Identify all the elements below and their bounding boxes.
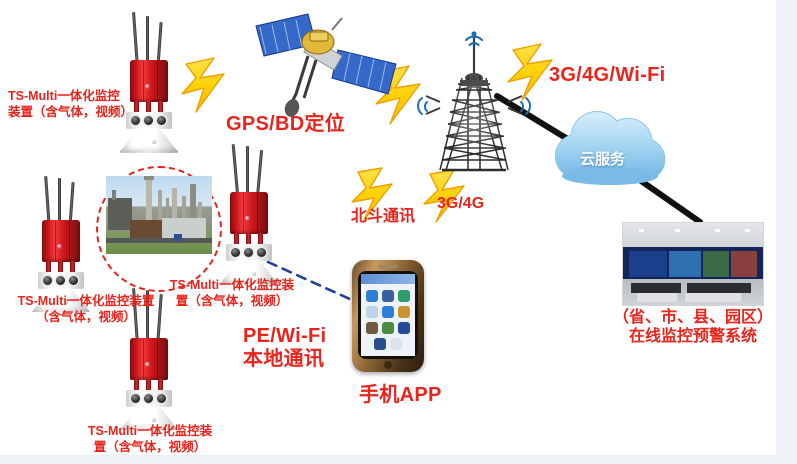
- bolt-satellite-tower: [376, 66, 420, 124]
- sensor-port: [244, 248, 253, 257]
- device-knob: [152, 140, 156, 144]
- cell-tower-icon: [418, 31, 530, 170]
- body-seam: [55, 221, 56, 261]
- phone-home-button[interactable]: [384, 361, 392, 369]
- sensor-port: [157, 116, 166, 125]
- body-seam: [143, 339, 144, 379]
- wifi-arcs-left: [418, 98, 427, 114]
- device-mid-left[interactable]: [24, 176, 96, 308]
- diagram-content: 云服务: [0, 0, 776, 455]
- device-mid-center[interactable]: [212, 144, 284, 280]
- body-seam: [69, 221, 70, 261]
- sensor-port: [56, 276, 65, 285]
- app-icon[interactable]: [366, 290, 378, 302]
- status-dot: [245, 216, 250, 221]
- phone-screen[interactable]: [361, 274, 415, 356]
- app-icon[interactable]: [398, 306, 410, 318]
- antenna: [256, 150, 263, 198]
- app-icon[interactable]: [398, 290, 410, 302]
- industrial-plant-photo: [106, 176, 212, 254]
- label-device-mid-center: TS-Multi一体化监控装 置（含气体，视频）: [160, 278, 304, 309]
- status-dot: [57, 244, 62, 249]
- antenna: [232, 144, 240, 198]
- wifi-arcs-top: [466, 37, 482, 45]
- device-body: [230, 192, 268, 234]
- app-icon[interactable]: [374, 338, 386, 350]
- app-icon[interactable]: [366, 322, 378, 334]
- link-tower-cloud: [497, 96, 566, 138]
- diagram-canvas: 云服务: [0, 0, 797, 464]
- sensor-port: [157, 394, 166, 403]
- label-local-comm: PE/Wi-Fi 本地通讯: [243, 325, 326, 371]
- app-header-bar: [361, 274, 415, 284]
- sensor-port: [43, 276, 52, 285]
- device-base: [120, 150, 178, 153]
- label-gps: GPS/BD定位: [226, 112, 345, 137]
- status-dot: [145, 362, 150, 367]
- app-icon[interactable]: [390, 338, 402, 350]
- body-seam: [157, 339, 158, 379]
- bolt-tower-cloud: [508, 44, 552, 100]
- device-body: [42, 220, 80, 262]
- label-control-center: （省、市、县、园区） 在线监控预警系统: [604, 308, 776, 346]
- device-cone: [120, 128, 178, 152]
- device-knob: [152, 418, 156, 422]
- wifi-arcs-right: [521, 98, 530, 114]
- body-seam: [243, 193, 244, 233]
- bolt-device-satellite: [182, 58, 224, 112]
- label-device-top-left: TS-Multi一体化监控 装置（含气体，视频）: [8, 89, 148, 120]
- app-icon[interactable]: [382, 306, 394, 318]
- sensor-port: [231, 248, 240, 257]
- sensor-port: [144, 394, 153, 403]
- device-knob: [252, 272, 256, 276]
- app-icon[interactable]: [398, 322, 410, 334]
- rugged-handheld-device[interactable]: [352, 260, 424, 372]
- app-icon[interactable]: [366, 306, 378, 318]
- phone-speaker: [378, 265, 398, 268]
- cloud-label: 云服务: [580, 148, 625, 169]
- label-3g4g: 3G/4G: [437, 194, 484, 214]
- satellite-icon: [256, 14, 396, 119]
- device-body: [130, 338, 168, 380]
- sensor-port: [69, 276, 78, 285]
- body-seam: [257, 193, 258, 233]
- sensor-port: [257, 248, 266, 257]
- body-seam: [157, 61, 158, 101]
- sensor-port: [131, 394, 140, 403]
- device-top-left[interactable]: [112, 12, 184, 152]
- app-icon[interactable]: [382, 290, 394, 302]
- link-cloud-controlroom: [634, 176, 700, 222]
- label-3g4g-wifi: 3G/4G/Wi-Fi: [549, 63, 665, 88]
- label-device-bottom: TS-Multi一体化监控装 置（含气体，视频）: [78, 424, 222, 455]
- antenna: [246, 146, 249, 198]
- app-icon[interactable]: [382, 322, 394, 334]
- control-room-photo: [622, 222, 764, 306]
- label-phone-app: 手机APP: [359, 383, 442, 408]
- label-beidou: 北斗通讯: [351, 207, 415, 227]
- label-device-mid-left: TS-Multi一体化监控装置 （含气体，视频）: [6, 294, 166, 325]
